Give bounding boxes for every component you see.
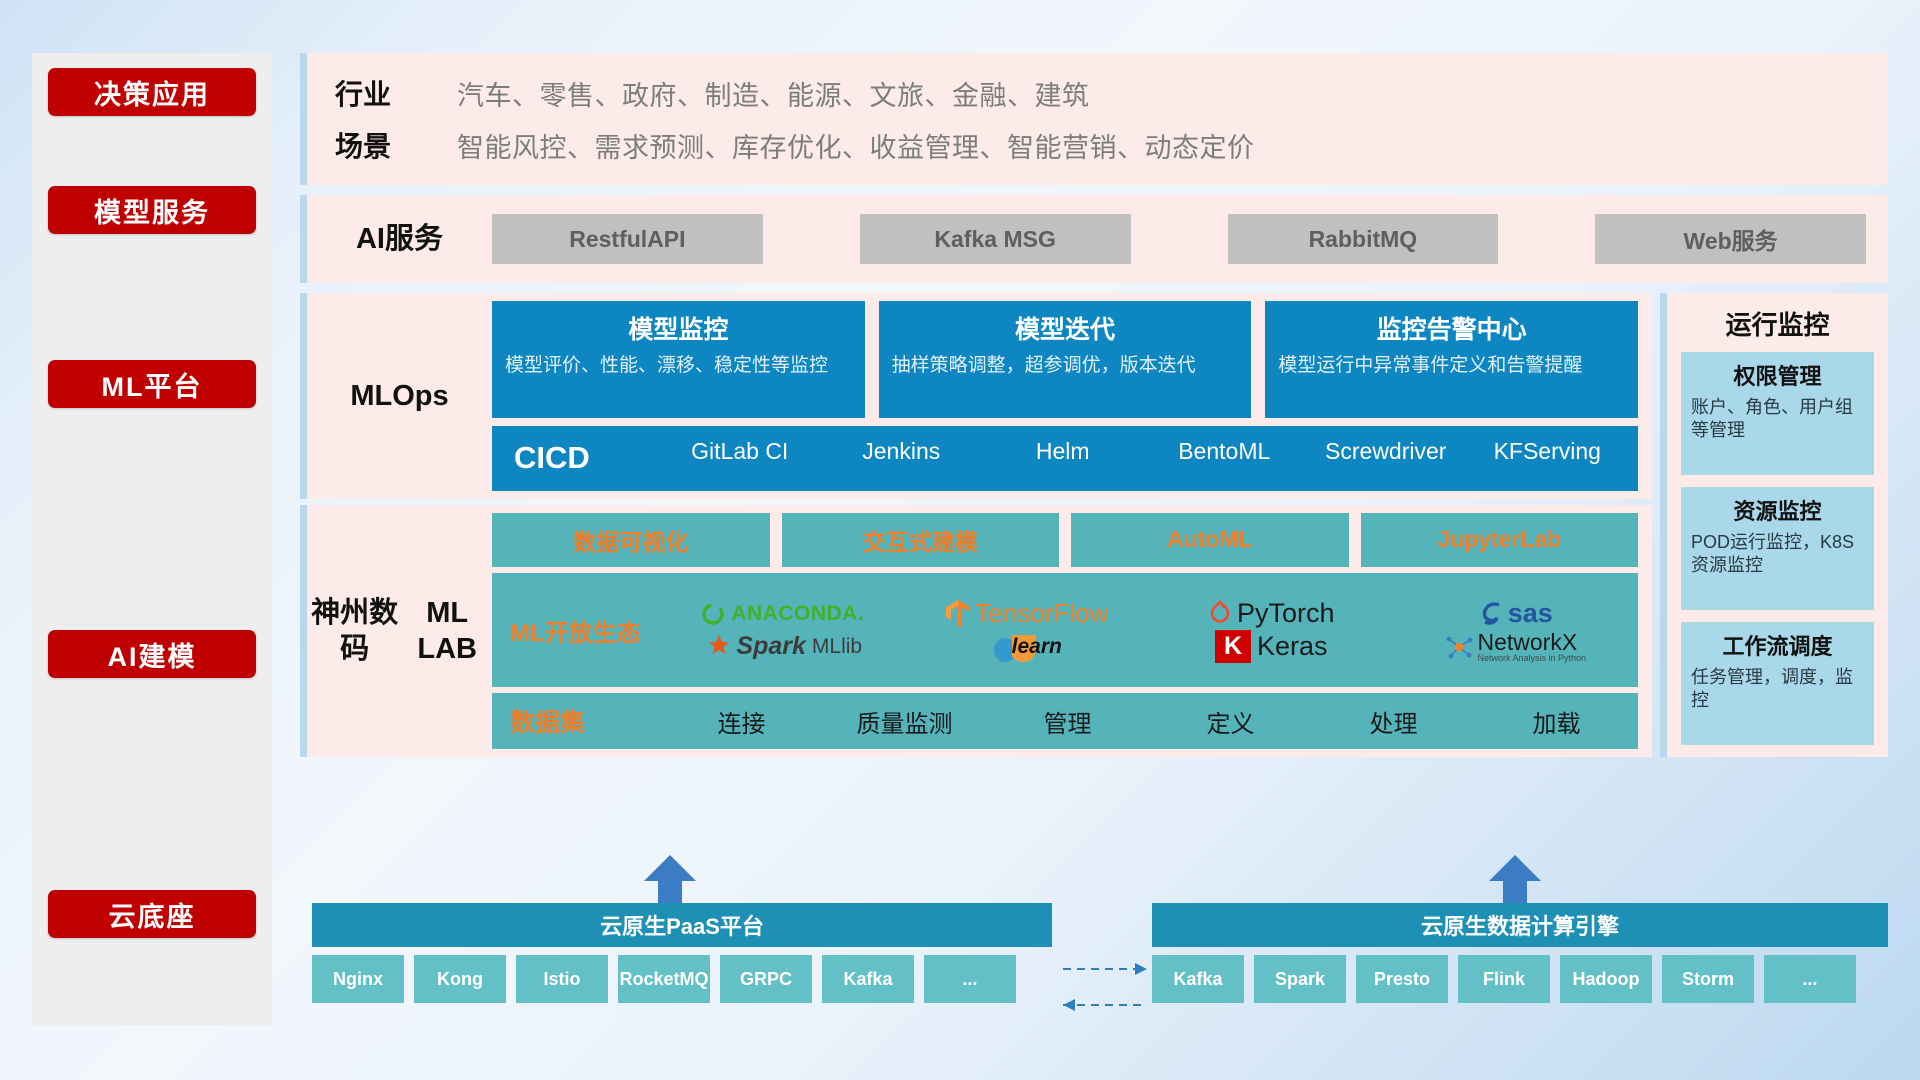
keras-logo-mark: K	[1215, 630, 1251, 663]
layer-chip-label: 决策应用	[94, 73, 210, 112]
ml-lab-tool-interactive-modeling[interactable]: 交互式建模	[782, 513, 1060, 567]
engine-chip-storm[interactable]: Storm	[1662, 955, 1754, 1003]
cicd-item-gitlab-ci[interactable]: GitLab CI	[659, 426, 821, 463]
card-desc: 模型评价、性能、漂移、稳定性等监控	[505, 353, 852, 378]
sas-logo: sas	[1479, 598, 1553, 629]
pytorch-logo-text: PyTorch	[1237, 598, 1335, 629]
ai-service-chip-kafka-msg[interactable]: Kafka MSG	[860, 214, 1131, 264]
scenario-key: 场景	[307, 125, 457, 165]
runtime-monitoring-column: 运行监控 权限管理 账户、角色、用户组等管理 资源监控 POD运行监控，K8S资…	[1660, 293, 1888, 757]
sas-logo-text: sas	[1508, 598, 1553, 629]
dataset-item-quality[interactable]: 质量监测	[823, 704, 986, 739]
scikit-learn-logo-text: learn	[1012, 635, 1062, 659]
monitor-card-workflow[interactable]: 工作流调度 任务管理，调度，监控	[1681, 622, 1874, 745]
anaconda-logo: ANACONDA.	[700, 601, 864, 627]
ml-lab-label: 神州数码 ML LAB	[307, 505, 492, 757]
industry-row: 行业 汽车、零售、政府、制造、能源、文旅、金融、建筑	[307, 67, 1868, 119]
cloud-native-paas-bar[interactable]: 云原生PaaS平台	[312, 903, 1052, 947]
paas-chip-kafka[interactable]: Kafka	[822, 955, 914, 1003]
card-desc: 账户、角色、用户组等管理	[1691, 396, 1864, 443]
ml-lab-tool-jupyterlab[interactable]: JupyterLab	[1361, 513, 1639, 567]
dataset-title: 数据集	[510, 703, 660, 739]
dataset-item-connect[interactable]: 连接	[660, 704, 823, 739]
cicd-title: CICD	[514, 440, 659, 476]
card-title: 权限管理	[1691, 359, 1864, 391]
layer-chip-model-service[interactable]: 模型服务	[48, 186, 256, 234]
layer-rail: 决策应用 模型服务 ML平台 AI建模 云底座	[32, 53, 272, 1025]
cicd-item-jenkins[interactable]: Jenkins	[821, 426, 983, 463]
monitor-card-resource[interactable]: 资源监控 POD运行监控，K8S资源监控	[1681, 487, 1874, 610]
ml-open-ecosystem-row: ML开放生态 ANACONDA. TensorFlow PyTorc	[492, 573, 1638, 688]
ml-lab-tool-row: 数据可视化 交互式建模 AutoML JupyterLab	[492, 513, 1638, 567]
scikit-learn-logo: learn	[992, 631, 1062, 663]
networkx-logo-text: NetworkX	[1477, 631, 1586, 654]
paas-chip-grpc[interactable]: GRPC	[720, 955, 812, 1003]
ml-lab-label-line2: ML LAB	[402, 595, 492, 668]
paas-component-row: Nginx Kong Istio RocketMQ GRPC Kafka ...	[312, 955, 1016, 1003]
ai-service-band: AI服务 RestfulAPI Kafka MSG RabbitMQ Web服务	[300, 195, 1888, 283]
dataset-item-manage[interactable]: 管理	[986, 704, 1149, 739]
paas-chip-nginx[interactable]: Nginx	[312, 955, 404, 1003]
networkx-logo-tagline: Network Analysis in Python	[1477, 654, 1586, 663]
ml-lab-band: 神州数码 ML LAB 数据可视化 交互式建模 AutoML JupyterLa…	[300, 505, 1652, 757]
anaconda-logo-text: ANACONDA.	[731, 602, 864, 626]
networkx-logo: NetworkX Network Analysis in Python	[1445, 631, 1586, 663]
paas-chip-rocketmq[interactable]: RocketMQ	[618, 955, 710, 1003]
industry-value: 汽车、零售、政府、制造、能源、文旅、金融、建筑	[457, 74, 1090, 113]
cicd-item-helm[interactable]: Helm	[982, 426, 1144, 463]
layer-chip-cloud-base[interactable]: 云底座	[48, 890, 256, 938]
layer-chip-ml-platform[interactable]: ML平台	[48, 360, 256, 408]
mlops-band: MLOps 模型监控 模型评价、性能、漂移、稳定性等监控 模型迭代 抽样策略调整…	[300, 293, 1652, 499]
ml-open-ecosystem-title: ML开放生态	[510, 613, 660, 648]
layer-chip-label: 模型服务	[94, 191, 210, 230]
layer-chip-decision[interactable]: 决策应用	[48, 68, 256, 116]
paas-chip-more[interactable]: ...	[924, 955, 1016, 1003]
engine-chip-presto[interactable]: Presto	[1356, 955, 1448, 1003]
card-title: 模型迭代	[892, 310, 1239, 346]
cloud-native-data-engine-bar[interactable]: 云原生数据计算引擎	[1152, 903, 1888, 947]
paas-chip-istio[interactable]: Istio	[516, 955, 608, 1003]
ml-lab-tool-automl[interactable]: AutoML	[1071, 513, 1349, 567]
dataset-row: 数据集 连接 质量监测 管理 定义 处理 加载	[492, 693, 1638, 749]
mlops-card-row: 模型监控 模型评价、性能、漂移、稳定性等监控 模型迭代 抽样策略调整，超参调优，…	[492, 301, 1638, 418]
ai-service-chip-web-service[interactable]: Web服务	[1595, 214, 1866, 264]
ai-service-chip-row: RestfulAPI Kafka MSG RabbitMQ Web服务	[492, 195, 1888, 283]
card-title: 监控告警中心	[1278, 310, 1625, 346]
card-title: 工作流调度	[1691, 629, 1864, 661]
cicd-item-screwdriver[interactable]: Screwdriver	[1305, 426, 1467, 463]
cicd-bar: CICD GitLab CI Jenkins Helm BentoML Scre…	[492, 426, 1638, 491]
monitor-card-permission[interactable]: 权限管理 账户、角色、用户组等管理	[1681, 352, 1874, 475]
tensorflow-logo-text: TensorFlow	[975, 598, 1108, 629]
spark-logo-text: Spark	[736, 632, 805, 661]
scenario-row: 场景 智能风控、需求预测、库存优化、收益管理、智能营销、动态定价	[307, 119, 1868, 171]
ml-lab-tool-data-visualization[interactable]: 数据可视化	[492, 513, 770, 567]
ml-lab-content: 数据可视化 交互式建模 AutoML JupyterLab ML开放生态 ANA…	[492, 505, 1652, 757]
arrow-up-paas	[640, 855, 700, 905]
layer-chip-label: 云底座	[109, 895, 196, 934]
dataset-item-process[interactable]: 处理	[1312, 704, 1475, 739]
decision-application-band: 行业 汽车、零售、政府、制造、能源、文旅、金融、建筑 场景 智能风控、需求预测、…	[300, 53, 1888, 185]
card-desc: 抽样策略调整，超参调优，版本迭代	[892, 353, 1239, 378]
card-desc: 任务管理，调度，监控	[1691, 666, 1864, 713]
card-title: 资源监控	[1691, 494, 1864, 526]
layer-chip-ai-modeling[interactable]: AI建模	[48, 630, 256, 678]
mllib-logo-text: MLlib	[812, 635, 862, 659]
layer-chip-label: ML平台	[102, 365, 203, 404]
mlops-card-model-monitoring[interactable]: 模型监控 模型评价、性能、漂移、稳定性等监控	[492, 301, 865, 418]
scenario-value: 智能风控、需求预测、库存优化、收益管理、智能营销、动态定价	[457, 126, 1255, 165]
arrow-up-data-engine	[1485, 855, 1545, 905]
data-engine-component-row: Kafka Spark Presto Flink Hadoop Storm ..…	[1152, 955, 1856, 1003]
card-title: 模型监控	[505, 310, 852, 346]
mlops-card-model-iteration[interactable]: 模型迭代 抽样策略调整，超参调优，版本迭代	[879, 301, 1252, 418]
card-desc: 模型运行中异常事件定义和告警提醒	[1278, 353, 1625, 378]
dataset-item-define[interactable]: 定义	[1149, 704, 1312, 739]
mlops-card-alert-center[interactable]: 监控告警中心 模型运行中异常事件定义和告警提醒	[1265, 301, 1638, 418]
mlops-label: MLOps	[307, 293, 492, 499]
ai-service-chip-restfulapi[interactable]: RestfulAPI	[492, 214, 763, 264]
mlops-content: 模型监控 模型评价、性能、漂移、稳定性等监控 模型迭代 抽样策略调整，超参调优，…	[492, 293, 1652, 499]
keras-logo: K Keras	[1215, 630, 1328, 663]
engine-chip-spark[interactable]: Spark	[1254, 955, 1346, 1003]
decision-table: 行业 汽车、零售、政府、制造、能源、文旅、金融、建筑 场景 智能风控、需求预测、…	[307, 53, 1888, 185]
keras-logo-text: Keras	[1257, 631, 1328, 662]
runtime-monitoring-title: 运行监控	[1681, 305, 1874, 342]
dataset-item-load[interactable]: 加载	[1475, 704, 1638, 739]
ecosystem-logo-grid: ANACONDA. TensorFlow PyTorch sas	[660, 597, 1638, 663]
engine-chip-hadoop[interactable]: Hadoop	[1560, 955, 1652, 1003]
engine-chip-more[interactable]: ...	[1764, 955, 1856, 1003]
industry-key: 行业	[307, 73, 457, 113]
bidirectional-dashed-connector	[1055, 955, 1155, 1025]
ml-lab-label-line1: 神州数码	[307, 595, 402, 668]
card-desc: POD运行监控，K8S资源监控	[1691, 531, 1864, 578]
engine-chip-flink[interactable]: Flink	[1458, 955, 1550, 1003]
cicd-item-kfserving[interactable]: KFServing	[1467, 426, 1629, 463]
tensorflow-logo: TensorFlow	[945, 598, 1108, 629]
engine-chip-kafka[interactable]: Kafka	[1152, 955, 1244, 1003]
ai-service-chip-rabbitmq[interactable]: RabbitMQ	[1228, 214, 1499, 264]
paas-chip-kong[interactable]: Kong	[414, 955, 506, 1003]
ai-service-label: AI服务	[307, 195, 492, 283]
cicd-item-bentoml[interactable]: BentoML	[1144, 426, 1306, 463]
layer-chip-label: AI建模	[108, 635, 197, 674]
pytorch-logo: PyTorch	[1208, 598, 1335, 629]
architecture-stack: 行业 汽车、零售、政府、制造、能源、文旅、金融、建筑 场景 智能风控、需求预测、…	[300, 53, 1888, 1025]
spark-mllib-logo: Spark MLlib	[702, 632, 862, 661]
